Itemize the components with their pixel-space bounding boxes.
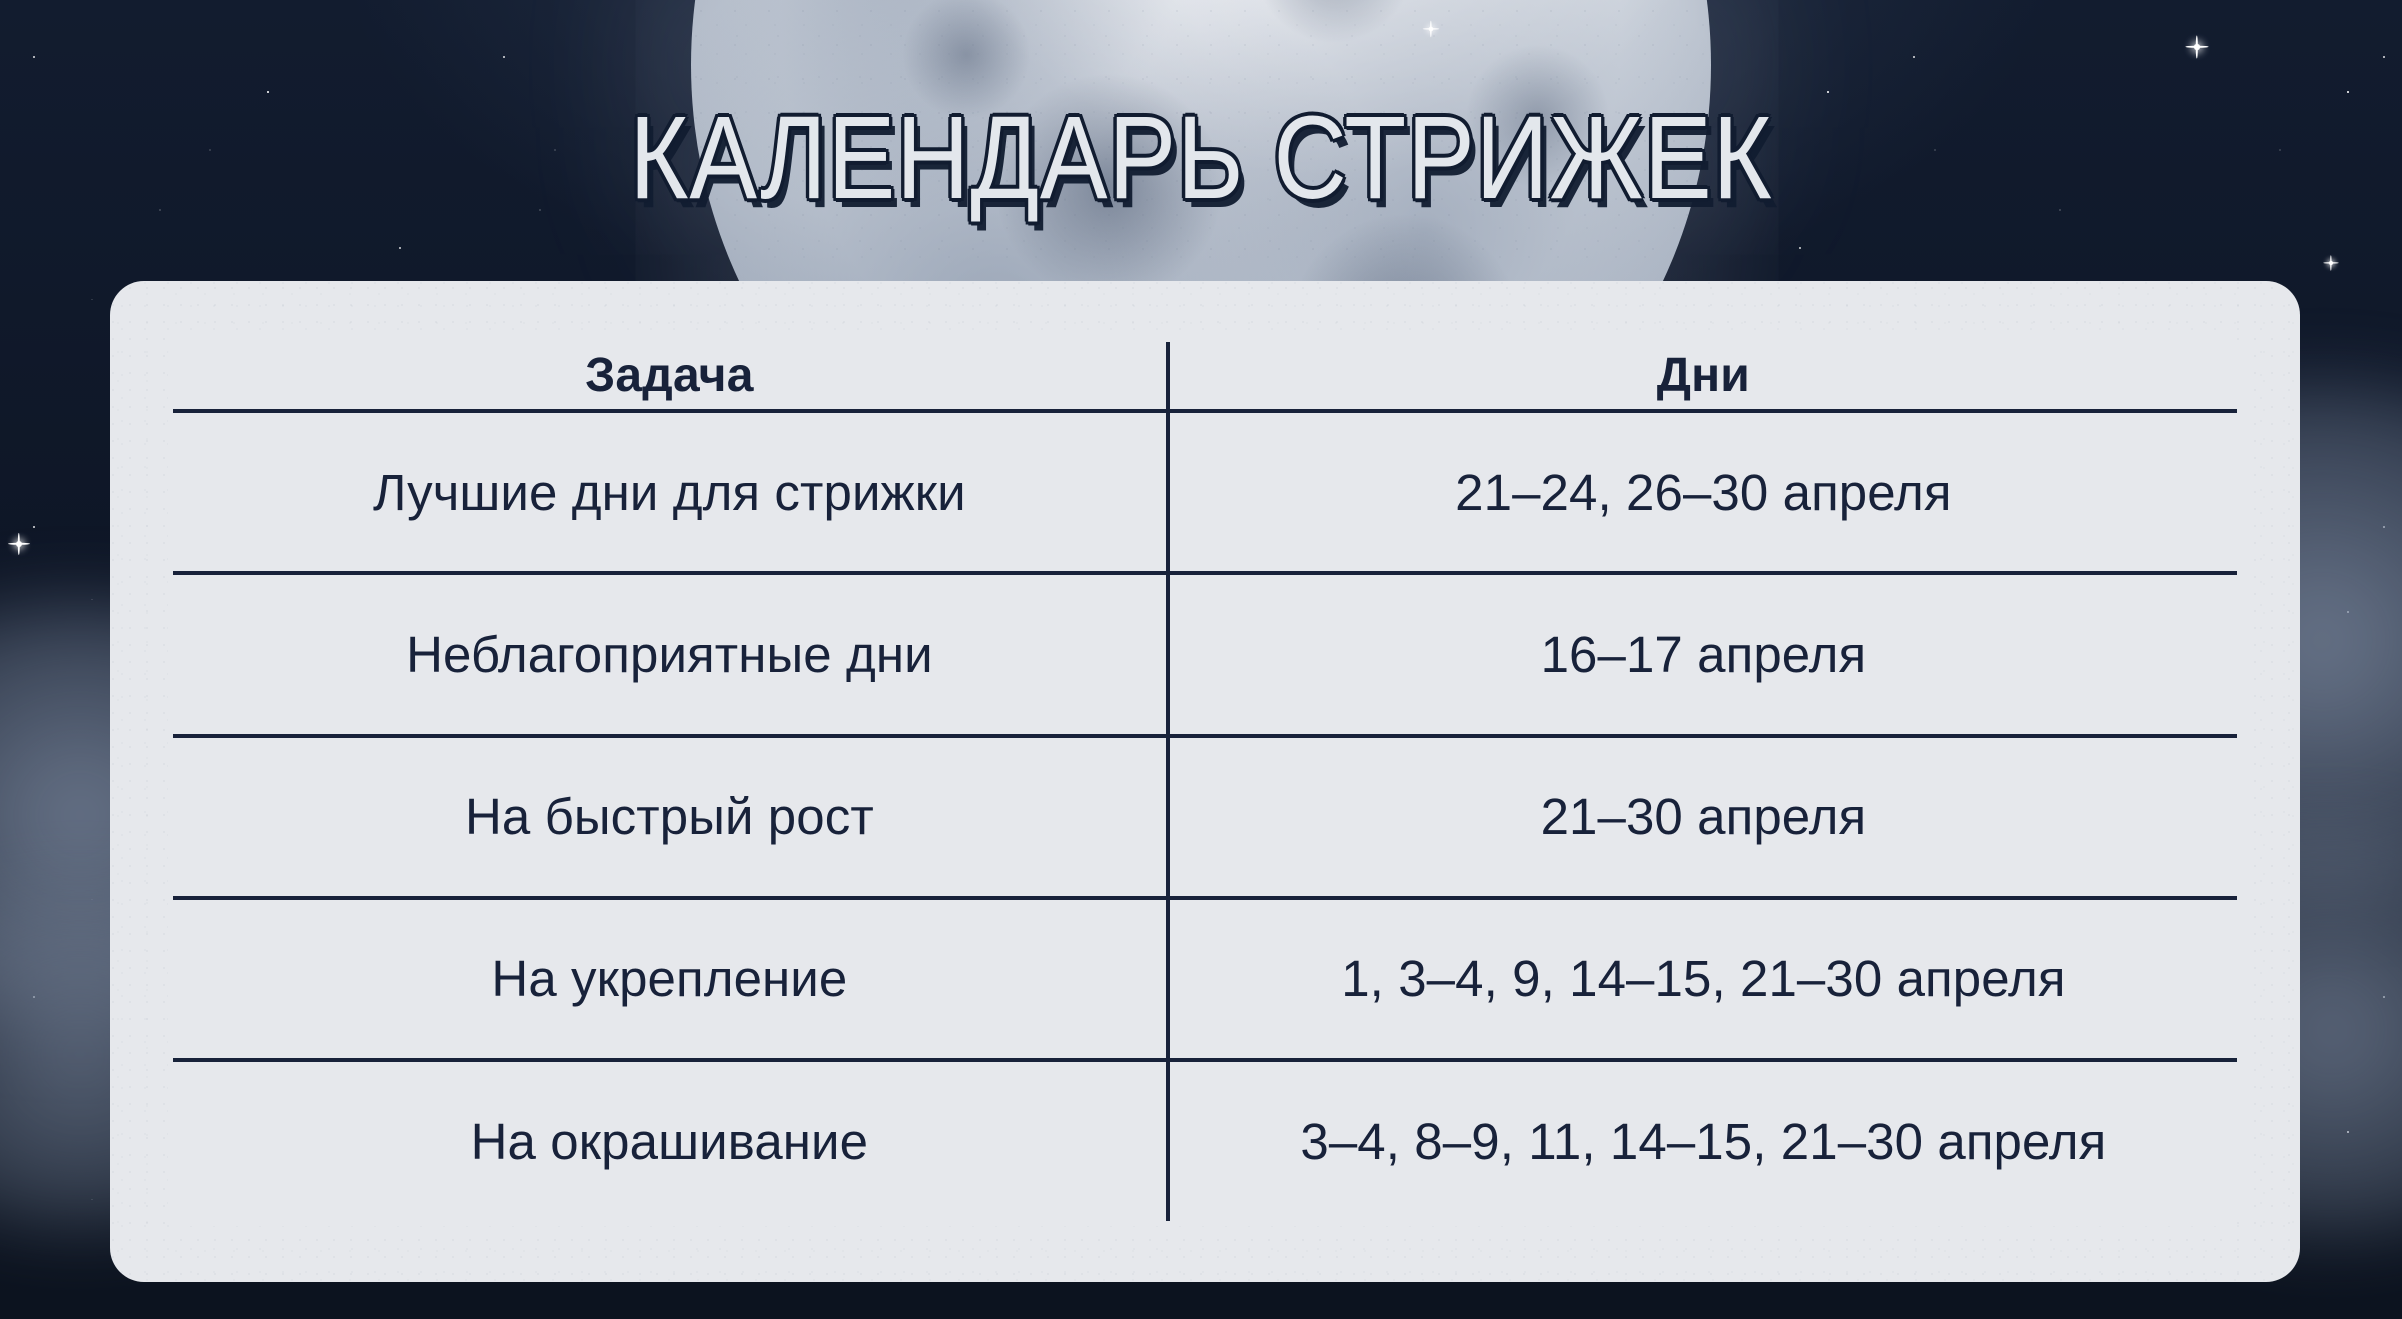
cell-days: 3–4, 8–9, 11, 14–15, 21–30 апреля [1168,1060,2240,1223]
column-header-task: Задача [171,340,1168,412]
table-row: Лучшие дни для стрижки 21–24, 26–30 апре… [171,411,2240,573]
cell-days: 21–24, 26–30 апреля [1168,411,2240,573]
table-header-row: Задача Дни [171,340,2240,412]
table-row: На быстрый рост 21–30 апреля [171,736,2240,898]
haircut-calendar-table: Задача Дни Лучшие дни для стрижки 21–24,… [168,337,2242,1226]
cell-days: 16–17 апреля [1168,573,2240,735]
table-row: На укрепление 1, 3–4, 9, 14–15, 21–30 ап… [171,898,2240,1060]
cell-task: На быстрый рост [171,736,1168,898]
page-title: КАЛЕНДАРЬ СТРИЖЕК [168,95,2234,222]
table-row: Неблагоприятные дни 16–17 апреля [171,573,2240,735]
cell-task: Лучшие дни для стрижки [171,411,1168,573]
cell-task: Неблагоприятные дни [171,573,1168,735]
cell-task: На окрашивание [171,1060,1168,1223]
cell-days: 1, 3–4, 9, 14–15, 21–30 апреля [1168,898,2240,1060]
table-row: На окрашивание 3–4, 8–9, 11, 14–15, 21–3… [171,1060,2240,1223]
table-head: Задача Дни [171,340,2240,412]
cell-days: 21–30 апреля [1168,736,2240,898]
cell-task: На укрепление [171,898,1168,1060]
poster-root: КАЛЕНДАРЬ СТРИЖЕК Задача Дни Лучшие дни … [0,0,2402,1319]
calendar-card: Задача Дни Лучшие дни для стрижки 21–24,… [110,281,2300,1282]
column-header-days: Дни [1168,340,2240,412]
table-body: Лучшие дни для стрижки 21–24, 26–30 апре… [171,411,2240,1224]
